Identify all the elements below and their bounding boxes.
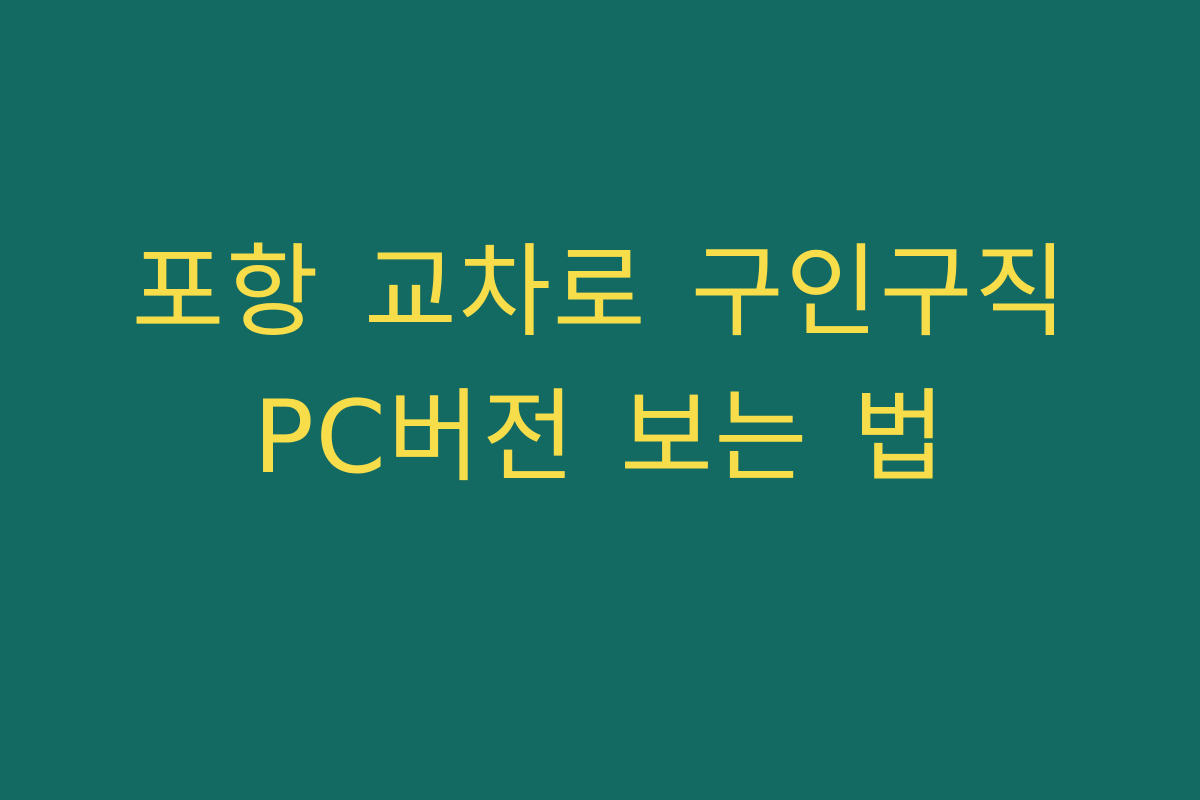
title-block: 포항 교차로 구인구직 PC버전 보는 법 — [70, 220, 1130, 510]
page-title: 포항 교차로 구인구직 PC버전 보는 법 — [70, 220, 1130, 510]
thumbnail-canvas: 포항 교차로 구인구직 PC버전 보는 법 — [0, 0, 1200, 800]
